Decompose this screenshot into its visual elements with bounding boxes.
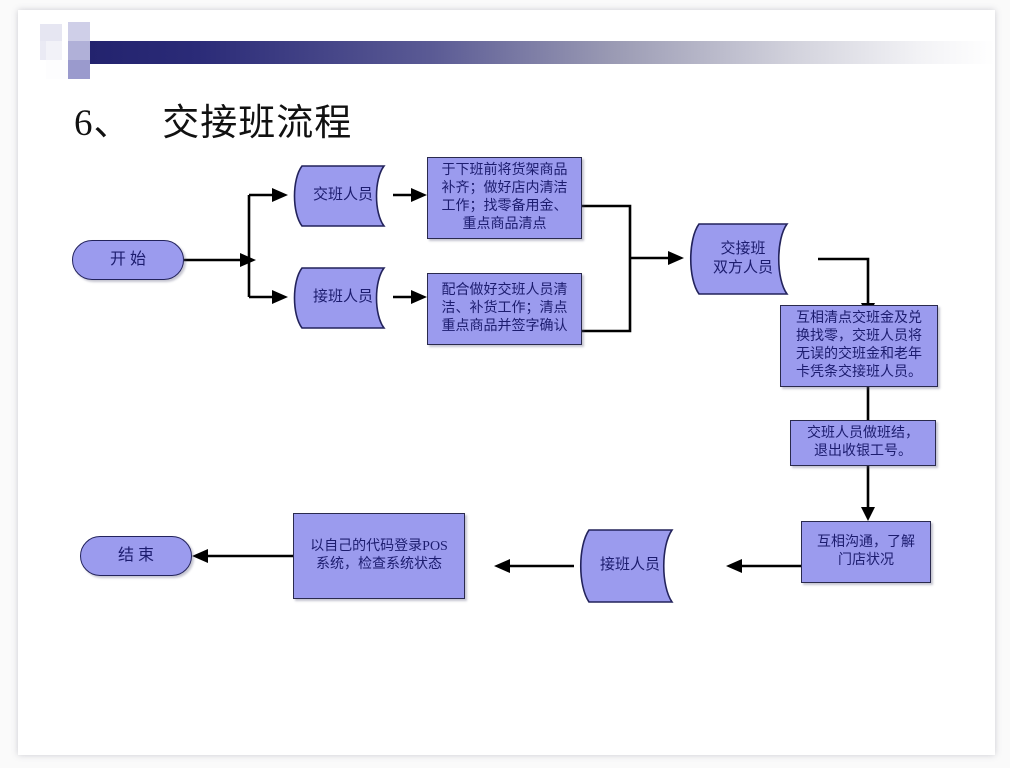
- node-both-parties[interactable]: 交接班 双方人员: [684, 223, 802, 295]
- node-handover-label: 交班人员: [288, 165, 398, 227]
- node-communicate[interactable]: 互相沟通，了解 门店状况: [801, 521, 931, 583]
- arrowhead-takeover-taskb: [411, 290, 427, 304]
- node-takeover[interactable]: 接班人员: [288, 267, 398, 329]
- node-takeover-2-label: 接班人员: [574, 529, 686, 603]
- node-takeover-label: 接班人员: [288, 267, 398, 329]
- arrowhead-merge-both: [668, 251, 684, 265]
- node-shift-close-label: 交班人员做班结， 退出收银工号。: [791, 421, 935, 465]
- arrowhead-shiftclose-communicate: [861, 507, 875, 521]
- arrowhead-loginpos-end: [192, 549, 208, 563]
- node-handover[interactable]: 交班人员: [288, 165, 398, 227]
- arrowhead-takeover2-loginpos: [494, 559, 510, 573]
- arrowhead-split-takeover: [272, 290, 288, 304]
- node-task-a-label: 于下班前将货架商品 补齐；做好店内清洁 工作；找零备用金、 重点商品清点: [428, 158, 581, 238]
- node-login-pos[interactable]: 以自己的代码登录POS 系统，检查系统状态: [293, 513, 465, 599]
- node-communicate-label: 互相沟通，了解 门店状况: [802, 522, 930, 582]
- arrowhead-communicate-takeover2: [726, 559, 742, 573]
- edge-merge-bracket: [580, 206, 630, 331]
- node-shift-close[interactable]: 交班人员做班结， 退出收银工号。: [790, 420, 936, 466]
- node-start[interactable]: 开 始: [72, 240, 184, 280]
- node-takeover-2[interactable]: 接班人员: [574, 529, 686, 603]
- arrowhead-handover-taska: [411, 188, 427, 202]
- arrowhead-split-handover: [272, 188, 288, 202]
- node-end-label: 结 束: [81, 537, 191, 575]
- node-end[interactable]: 结 束: [80, 536, 192, 576]
- slide-canvas: 6、 交接班流程: [18, 10, 995, 755]
- node-login-pos-label: 以自己的代码登录POS 系统，检查系统状态: [294, 514, 464, 598]
- node-task-a[interactable]: 于下班前将货架商品 补齐；做好店内清洁 工作；找零备用金、 重点商品清点: [427, 157, 582, 239]
- node-task-b-label: 配合做好交班人员清 洁、补货工作；清点 重点商品并签字确认: [428, 274, 581, 344]
- node-start-label: 开 始: [73, 241, 183, 279]
- edge-both-count: [818, 259, 868, 303]
- node-task-b[interactable]: 配合做好交班人员清 洁、补货工作；清点 重点商品并签字确认: [427, 273, 582, 345]
- node-count-cash-label: 互相清点交班金及兑 换找零，交班人员将 无误的交班金和老年 卡凭条交接班人员。: [781, 306, 937, 386]
- node-count-cash[interactable]: 互相清点交班金及兑 换找零，交班人员将 无误的交班金和老年 卡凭条交接班人员。: [780, 305, 938, 387]
- node-both-parties-label: 交接班 双方人员: [684, 223, 802, 295]
